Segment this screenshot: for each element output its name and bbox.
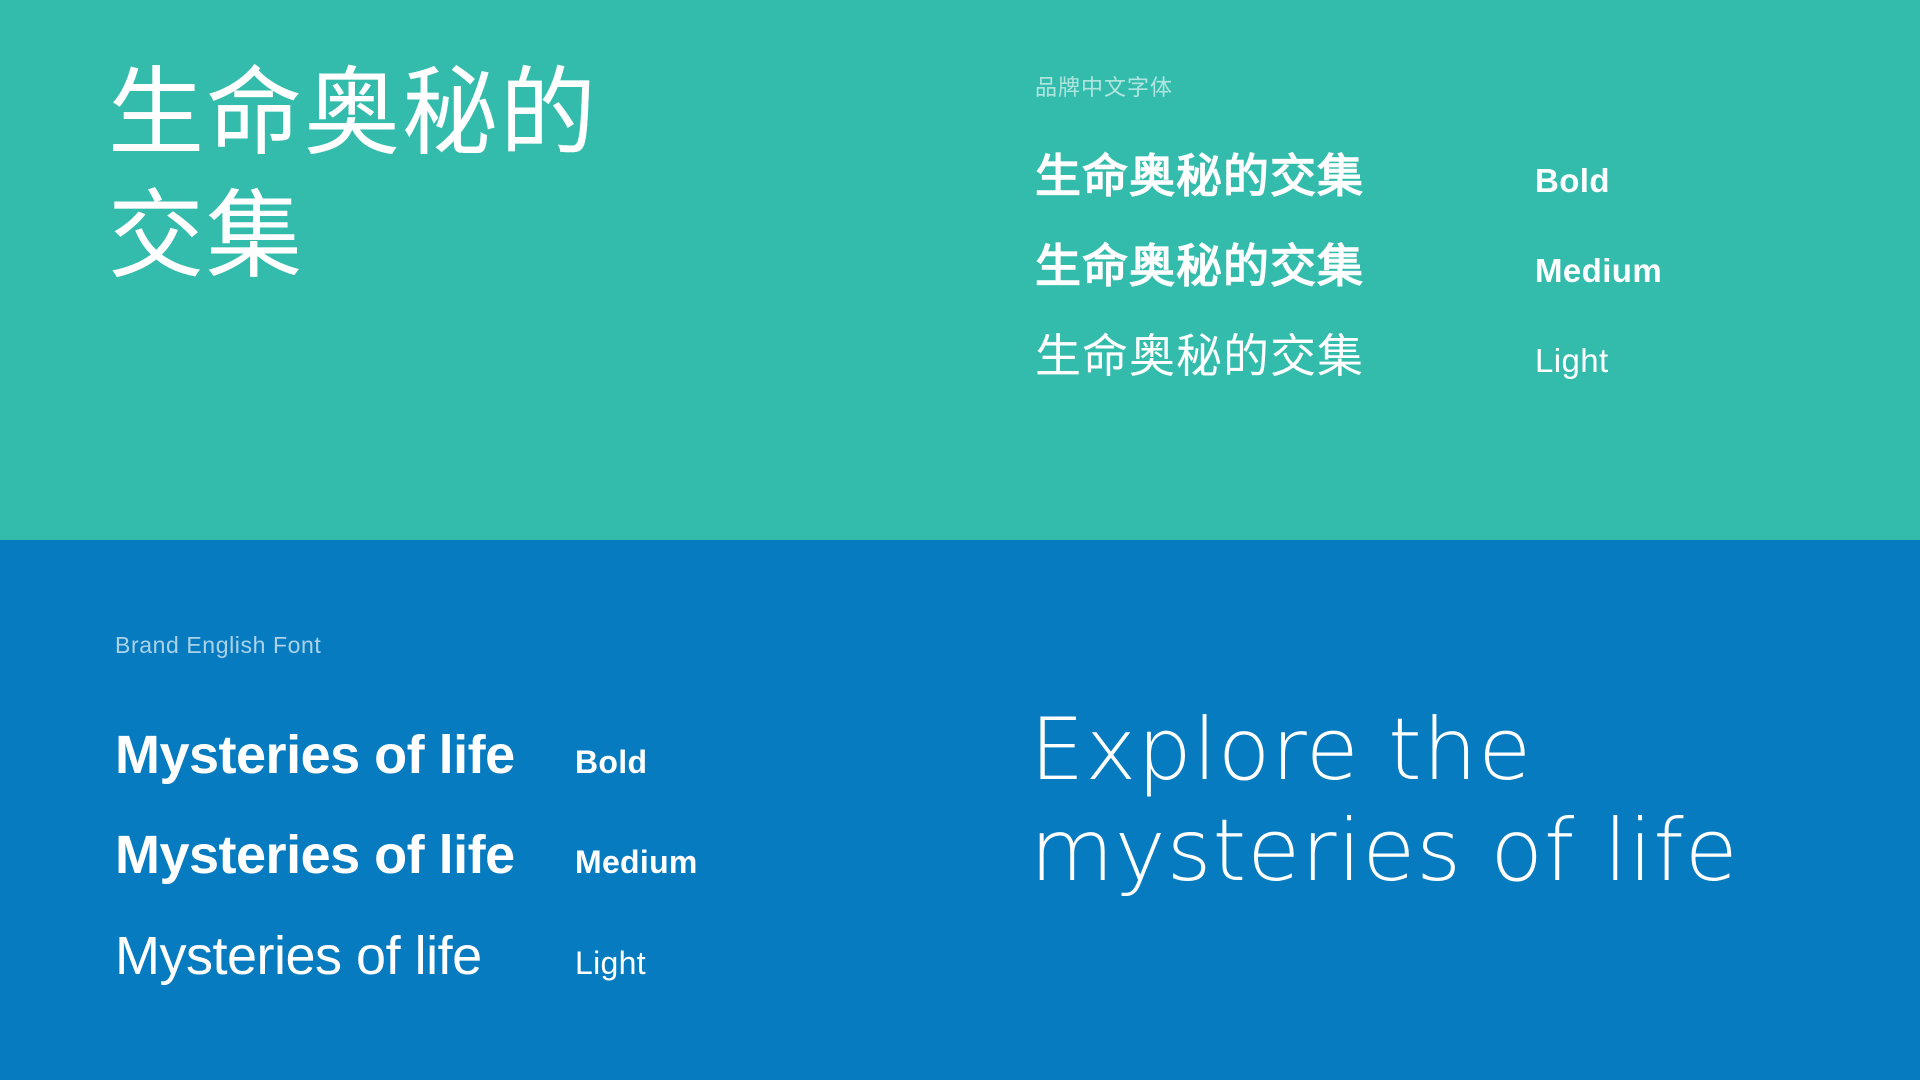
english-weight-label-medium: Medium (575, 843, 698, 881)
chinese-weight-label-light: Light (1535, 341, 1609, 381)
chinese-sample-row-light: 生命奥秘的交集 Light (1035, 328, 1895, 384)
english-sample-text-medium: Mysteries of life (115, 825, 575, 885)
english-sample-text-light: Mysteries of life (115, 926, 575, 986)
chinese-sample-row-medium: 生命奥秘的交集 Medium (1035, 238, 1895, 294)
english-display-headline: Explore the mysteries of life (1030, 700, 1870, 903)
english-sample-stack: Brand English Font Mysteries of life Bol… (115, 634, 935, 986)
english-weight-label-bold: Bold (575, 743, 647, 781)
typography-specimen-board: 生命奥秘的 交集 品牌中文字体 生命奥秘的交集 Bold 生命奥秘的交集 Med… (0, 0, 1920, 1080)
chinese-sample-row-bold: 生命奥秘的交集 Bold (1035, 148, 1895, 204)
chinese-sample-text-light: 生命奥秘的交集 (1035, 328, 1535, 384)
chinese-font-panel: 生命奥秘的 交集 品牌中文字体 生命奥秘的交集 Bold 生命奥秘的交集 Med… (0, 0, 1920, 540)
english-weight-label-light: Light (575, 944, 646, 982)
english-sample-text-bold: Mysteries of life (115, 725, 575, 785)
chinese-weight-label-medium: Medium (1535, 251, 1662, 291)
chinese-sample-text-medium: 生命奥秘的交集 (1035, 238, 1535, 294)
chinese-display-headline: 生命奥秘的 交集 (108, 52, 808, 298)
chinese-weight-label-bold: Bold (1535, 161, 1610, 201)
english-sample-row-light: Mysteries of life Light (115, 926, 935, 986)
english-sample-row-bold: Mysteries of life Bold (115, 725, 935, 785)
english-section-label: Brand English Font (115, 634, 935, 657)
chinese-sample-stack: 品牌中文字体 生命奥秘的交集 Bold 生命奥秘的交集 Medium 生命奥秘的… (1035, 78, 1895, 384)
chinese-sample-text-bold: 生命奥秘的交集 (1035, 148, 1535, 204)
english-sample-row-medium: Mysteries of life Medium (115, 825, 935, 885)
chinese-section-label: 品牌中文字体 (1035, 78, 1895, 100)
english-font-panel: Brand English Font Mysteries of life Bol… (0, 540, 1920, 1080)
